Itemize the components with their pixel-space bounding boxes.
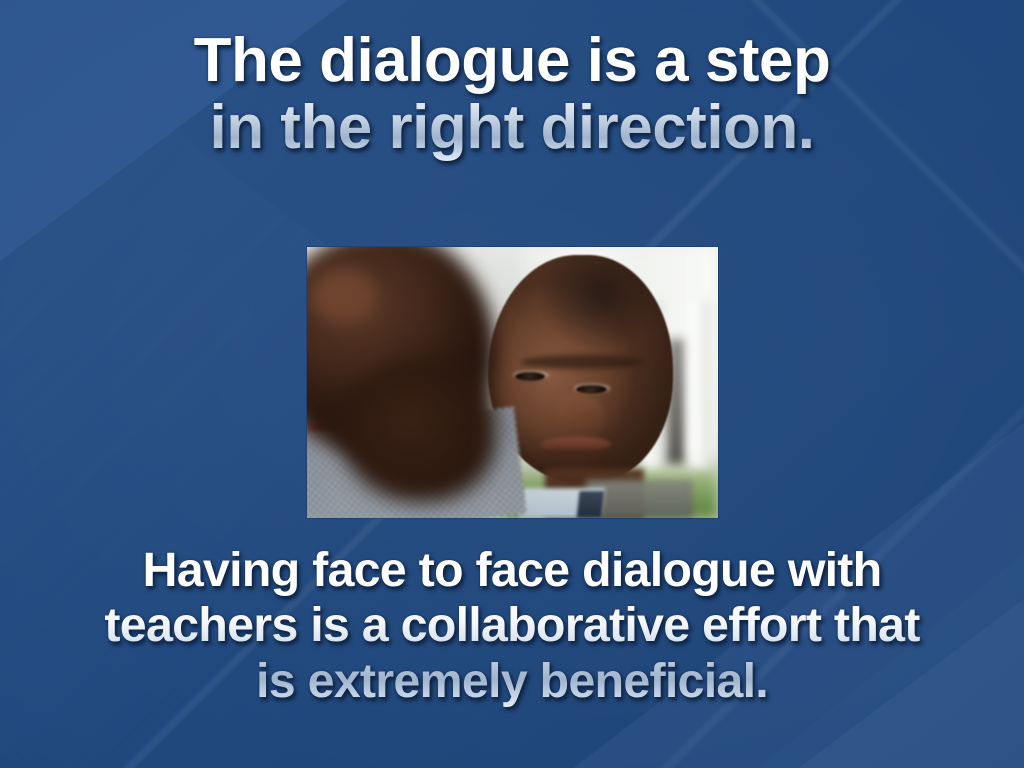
- slide-photo: [307, 247, 718, 518]
- photo-background-column: [687, 301, 710, 469]
- photo-man-in-focus-head: [488, 255, 673, 483]
- photo-background-column: [545, 301, 568, 469]
- presentation-slide: The dialogue is a step in the right dire…: [0, 0, 1024, 768]
- photo-man-in-focus-eye-left-sclera: [513, 371, 549, 380]
- photo-foreground-man-accent-blue: [307, 442, 328, 518]
- photo-man-in-focus-necktie: [577, 491, 605, 518]
- photo-man-in-focus-mouth: [541, 437, 611, 451]
- photo-background-column-gap: [619, 339, 637, 464]
- slide-title: The dialogue is a step in the right dire…: [0, 28, 1024, 162]
- photo-foreground-man-face-blur: [340, 361, 496, 502]
- photo-man-in-focus-lower-lip: [545, 449, 603, 459]
- photo-man-in-focus-eye-right-sclera: [574, 384, 610, 393]
- photo-foreground-man-head: [307, 247, 496, 458]
- photo-background-wall: [521, 247, 718, 458]
- slide-body-text: Having face to face dialogue with teache…: [0, 543, 1024, 709]
- photo-man-in-focus-brow: [521, 355, 644, 369]
- photo-man-in-focus-jacket: [586, 480, 693, 518]
- photo-man-in-focus-neck: [545, 469, 644, 518]
- photo-man-in-focus-collar: [519, 488, 605, 518]
- photo-foreground-man-ear: [311, 269, 377, 323]
- photo-man-in-focus-eye-left: [515, 372, 545, 381]
- photo-man-in-focus-chin: [533, 461, 615, 488]
- photo-depth-of-field-overlay: [307, 247, 718, 518]
- photo-background-sky: [307, 247, 718, 518]
- photo-foreground-man-houndstooth-jacket: [307, 407, 526, 518]
- photo-man-in-focus-nose: [554, 393, 603, 436]
- photo-background-column: [593, 301, 616, 469]
- photo-background-column-gap: [572, 339, 590, 464]
- photo-background-grass: [504, 472, 718, 518]
- photo-man-in-focus-eye-right: [576, 385, 606, 394]
- photo-background-column-gap: [667, 339, 685, 464]
- photo-background-column: [640, 301, 663, 469]
- photo-foreground-man-accent-red: [307, 415, 347, 453]
